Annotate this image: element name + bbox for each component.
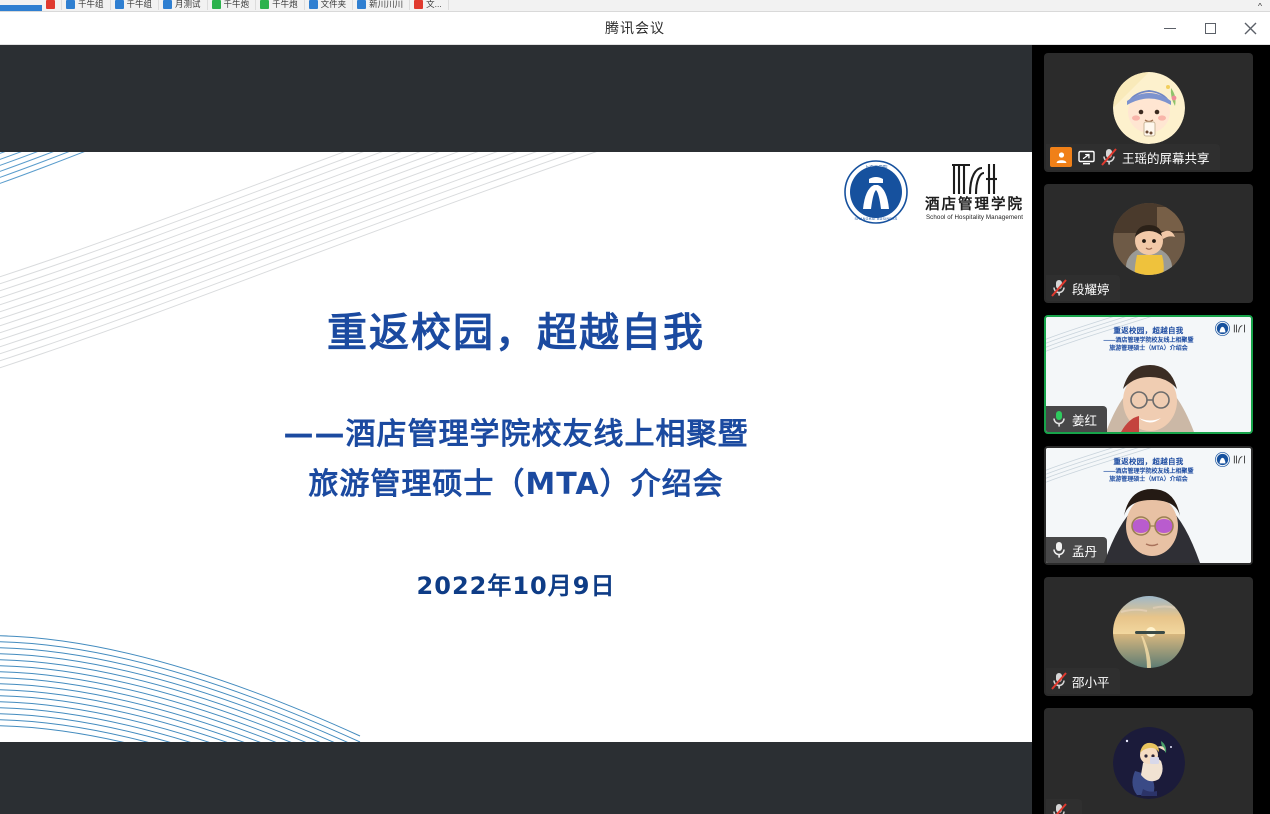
app-icon — [357, 0, 366, 9]
svg-text:上海商学院: 上海商学院 — [865, 164, 888, 171]
taskbar-item[interactable]: 文... — [410, 0, 449, 10]
participant-badge: 段耀婷 — [1046, 275, 1120, 301]
excel-icon — [260, 0, 269, 9]
video-slide-subtitle-line1: ——酒店管理学院校友线上相聚暨 — [1046, 337, 1251, 345]
participant-badge — [1046, 799, 1082, 814]
participant-badge: 孟丹 — [1046, 537, 1107, 563]
slide-subtitle-line1: ——酒店管理学院校友线上相聚暨 — [0, 410, 1032, 460]
slide-title: 重返校园，超越自我 — [0, 300, 1032, 358]
mic-muted-icon — [1050, 278, 1068, 298]
video-slide-title: 重返校园，超越自我 — [1046, 325, 1251, 336]
photo-toddler-icon — [1113, 203, 1185, 275]
video-slide-subtitle-line2: 旅游管理硕士（MTA）介绍会 — [1046, 345, 1251, 353]
close-button[interactable] — [1230, 12, 1270, 45]
taskbar-item-label: 千牛炮 — [224, 0, 250, 9]
slide-logos: 上海商学院 SHANGHAI BUSINESS — [843, 159, 1024, 225]
minimize-button[interactable] — [1150, 12, 1190, 45]
photo-sunset-sea-icon — [1113, 596, 1185, 668]
os-taskbar[interactable]: 千牛组 千牛组 月测试 千牛炮 千牛炮 文件夹 新川川川 文... ^ — [0, 0, 1270, 12]
app-title: 腾讯会议 — [605, 18, 665, 38]
taskbar-item[interactable]: 千牛炮 — [256, 0, 305, 10]
cartoon-girl-night-icon — [1113, 727, 1185, 799]
avatar — [1113, 596, 1185, 668]
taskbar-item-label: 月测试 — [175, 0, 201, 9]
shared-slide-surface: 上海商学院 SHANGHAI BUSINESS — [0, 152, 1032, 742]
taskbar-item-label: 新川川川 — [369, 0, 403, 9]
app-icon — [163, 0, 172, 9]
app-icon — [115, 0, 124, 9]
taskbar-item[interactable]: 文件夹 — [305, 0, 354, 10]
participant-name: 王瑶的屏幕共享 — [1122, 148, 1210, 167]
video-slide-title: 重返校园，超越自我 — [1046, 456, 1251, 467]
mic-active-icon — [1050, 409, 1068, 429]
participant-name: 姜红 — [1072, 410, 1097, 429]
school-name-cn: 酒店管理学院 — [925, 197, 1024, 213]
video-slide-subtitle: ——酒店管理学院校友线上相聚暨 旅游管理硕士（MTA）介绍会 — [1046, 468, 1251, 484]
video-slide-subtitle: ——酒店管理学院校友线上相聚暨 旅游管理硕士（MTA）介绍会 — [1046, 337, 1251, 353]
participant-badge: 姜红 — [1046, 406, 1107, 432]
shared-screen-stage[interactable]: 上海商学院 SHANGHAI BUSINESS — [0, 45, 1032, 814]
school-of-hospitality-logo: 酒店管理学院 School of Hospitality Management — [925, 162, 1024, 222]
mic-muted-icon — [1050, 671, 1068, 691]
participant-tile[interactable]: 重返校园，超越自我 ——酒店管理学院校友线上相聚暨 旅游管理硕士（MTA）介绍会… — [1044, 446, 1253, 565]
maximize-button[interactable] — [1190, 12, 1230, 45]
participant-name: 邵小平 — [1072, 672, 1110, 691]
tencent-meeting-window: 腾讯会议 — [0, 12, 1270, 814]
slide-date: 2022年10月9日 — [0, 566, 1032, 601]
taskbar-item[interactable]: 千牛炮 — [208, 0, 257, 10]
taskbar-item[interactable]: 千牛组 — [62, 0, 111, 10]
mic-muted-icon — [1100, 147, 1118, 167]
app-icon — [66, 0, 75, 9]
window-titlebar: 腾讯会议 — [0, 12, 1270, 45]
screen-share-icon — [1076, 148, 1096, 166]
avatar — [1113, 72, 1185, 144]
participant-filmstrip[interactable]: 王瑶的屏幕共享 — [1032, 45, 1270, 814]
excel-icon — [212, 0, 221, 9]
host-icon — [1050, 147, 1072, 167]
window-controls[interactable] — [1150, 12, 1270, 45]
system-tray[interactable]: ^ — [1250, 1, 1270, 11]
taskbar-item-label: 千牛组 — [127, 0, 153, 9]
participant-tile[interactable] — [1044, 708, 1253, 814]
taskbar-item-label: 千牛炮 — [272, 0, 298, 9]
pdf-icon — [46, 0, 55, 9]
taskbar-item-label: 文... — [426, 0, 442, 9]
mic-unmuted-icon — [1050, 540, 1068, 560]
taskbar-item[interactable]: 新川川川 — [353, 0, 410, 10]
participant-name: 孟丹 — [1072, 541, 1097, 560]
school-name-en: School of Hospitality Management — [926, 214, 1023, 222]
pdf-icon — [414, 0, 423, 9]
participant-badge: 王瑶的屏幕共享 — [1046, 144, 1220, 170]
participant-tile[interactable]: 王瑶的屏幕共享 — [1044, 53, 1253, 172]
close-icon — [1244, 22, 1257, 35]
start-button[interactable] — [0, 5, 42, 11]
slide-subtitle-line2: 旅游管理硕士（MTA）介绍会 — [0, 460, 1032, 510]
participant-badge: 邵小平 — [1046, 668, 1120, 694]
decor-swoosh-top — [0, 152, 650, 420]
taskbar-item[interactable] — [42, 0, 62, 10]
participant-tile[interactable]: 重返校园，超越自我 ——酒店管理学院校友线上相聚暨 旅游管理硕士（MTA）介绍会… — [1044, 315, 1253, 434]
app-icon — [309, 0, 318, 9]
cartoon-boy-bubble-tea-icon — [1113, 72, 1185, 144]
avatar — [1113, 727, 1185, 799]
svg-text:SHANGHAI BUSINESS: SHANGHAI BUSINESS — [854, 217, 897, 221]
slide-subtitle: ——酒店管理学院校友线上相聚暨 旅游管理硕士（MTA）介绍会 — [0, 410, 1032, 510]
taskbar-item-label: 千牛组 — [78, 0, 104, 9]
participant-name: 段耀婷 — [1072, 279, 1110, 298]
participant-tile[interactable]: 段耀婷 — [1044, 184, 1253, 303]
video-slide-subtitle-line1: ——酒店管理学院校友线上相聚暨 — [1046, 468, 1251, 476]
video-slide-subtitle-line2: 旅游管理硕士（MTA）介绍会 — [1046, 476, 1251, 484]
mic-muted-icon — [1050, 802, 1068, 814]
participant-tile[interactable]: 邵小平 — [1044, 577, 1253, 696]
tray-expand-icon[interactable]: ^ — [1258, 1, 1262, 11]
avatar — [1113, 203, 1185, 275]
taskbar-item[interactable]: 月测试 — [159, 0, 208, 10]
taskbar-item-label: 文件夹 — [321, 0, 347, 9]
taskbar-item[interactable]: 千牛组 — [111, 0, 160, 10]
hospitality-mark-icon — [950, 162, 1000, 196]
shanghai-business-school-crest-icon: 上海商学院 SHANGHAI BUSINESS — [843, 159, 909, 225]
